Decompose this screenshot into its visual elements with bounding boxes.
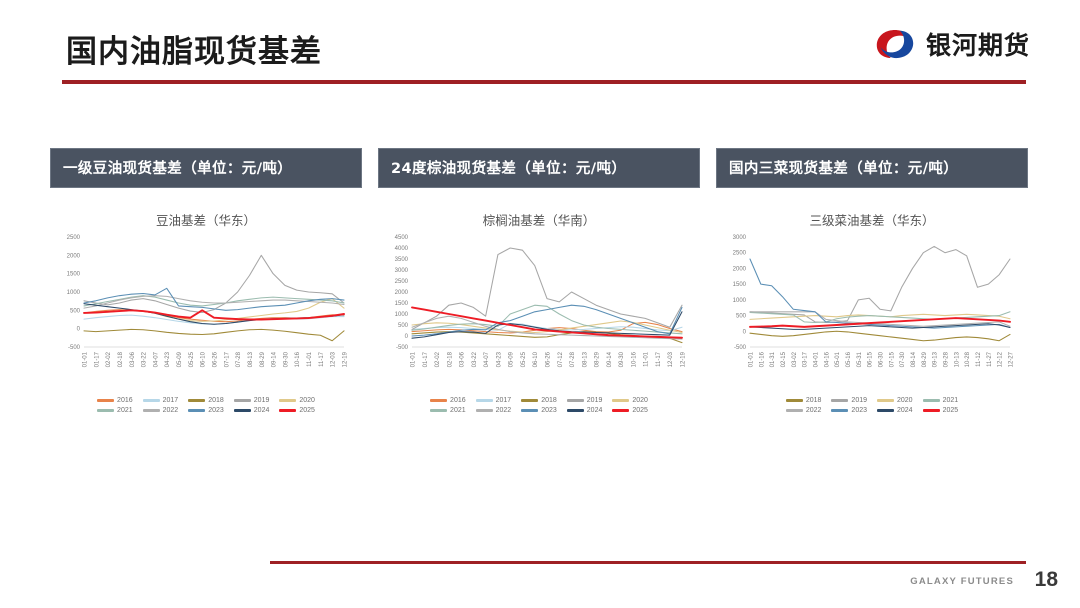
legend-item-2024[interactable]: 2024 [877,407,913,414]
legend-label: 2023 [541,407,557,414]
legend-swatch-icon [567,409,584,411]
plot-area-rapeseed-oil: 300025002000150010005000-50001-0101-1601… [716,231,1016,393]
x-axis-tick: 01-01 [83,351,89,367]
x-axis-tick: 06-30 [879,351,885,367]
legend-swatch-icon [877,399,894,401]
chart-title-rapeseed-oil: 三级菜油基差（华东） [716,210,1028,229]
x-axis-tick: 07-12 [558,351,564,367]
x-axis-tick: 08-14 [911,351,917,367]
legend-row: 2022202320242025 [781,407,963,414]
x-axis-tick: 05-01 [835,351,841,367]
x-axis-tick: 06-26 [213,351,219,367]
panel-palm-oil: 24度棕油现货基差（单位：元/吨）棕榈油基差（华南）45004000350030… [378,148,700,414]
y-axis-tick: 1000 [733,298,747,304]
legend-item-2019[interactable]: 2019 [831,397,867,404]
legend-label: 2018 [541,397,557,404]
brand-lockup: 银河期货 [874,26,1030,62]
x-axis-tick: 04-16 [824,351,830,367]
legend-label: 2025 [943,407,959,414]
y-axis-tick: 0 [77,327,81,333]
x-axis-tick: 11-01 [307,351,313,367]
legend-label: 2018 [208,397,224,404]
legend-swatch-icon [567,399,584,401]
legend-item-2016[interactable]: 2016 [430,397,466,404]
y-axis-tick: 1500 [67,272,81,278]
x-axis-tick: 12-12 [998,351,1004,367]
x-axis-tick: 04-23 [165,351,171,367]
x-axis-tick: 09-14 [272,351,278,367]
legend-swatch-icon [612,409,629,411]
panel-heading-soybean-oil: 一级豆油现货基差（单位：元/吨） [50,148,362,188]
legend-label: 2020 [299,397,315,404]
legend-swatch-icon [143,409,160,411]
y-axis-tick: 500 [736,314,747,320]
legend-item-2025[interactable]: 2025 [923,407,959,414]
legend-row: 20162017201820192020 [425,397,653,404]
y-axis-tick: -500 [68,345,81,351]
chart-rapeseed-oil: 三级菜油基差（华东）300025002000150010005000-50001… [716,210,1028,414]
legend-item-2025[interactable]: 2025 [612,407,648,414]
x-axis-tick: 05-31 [857,351,863,367]
legend-label: 2017 [163,397,179,404]
x-axis-tick: 05-09 [509,351,515,367]
x-axis-tick: 08-13 [582,351,588,367]
x-axis-tick: 12-03 [668,351,674,367]
legend-swatch-icon [188,399,205,401]
x-axis-tick: 03-22 [142,351,148,367]
legend-item-2016[interactable]: 2016 [97,397,133,404]
chart-title-soybean-oil: 豆油基差（华东） [50,210,362,229]
legend-swatch-icon [831,399,848,401]
x-axis-tick: 03-17 [803,351,809,367]
legend-label: 2021 [943,397,959,404]
legend-swatch-icon [923,399,940,401]
legend-label: 2021 [450,407,466,414]
series-line-2018 [750,331,1010,340]
legend-item-2020[interactable]: 2020 [279,397,315,404]
series-line-2019 [750,246,1010,322]
x-axis-tick: 06-26 [546,351,552,367]
x-axis-tick: 01-01 [749,351,755,367]
x-axis-tick: 04-07 [484,351,490,367]
y-axis-tick: 500 [70,308,81,314]
legend-item-2022[interactable]: 2022 [786,407,822,414]
x-axis-tick: 08-29 [260,351,266,367]
chart-legend-soybean-oil: 2016201720182019202020212022202320242025 [50,397,362,414]
legend-label: 2024 [587,407,603,414]
galaxy-swirl-icon [874,27,916,61]
x-axis-tick: 08-13 [248,351,254,367]
legend-label: 2025 [299,407,315,414]
legend-swatch-icon [234,399,251,401]
x-axis-tick: 11-12 [976,351,982,367]
legend-item-2022[interactable]: 2022 [143,407,179,414]
y-axis-tick: 2000 [395,290,409,296]
y-axis-tick: 2500 [733,251,747,257]
x-axis-tick: 01-17 [423,351,429,367]
x-axis-tick: 01-16 [759,351,765,367]
legend-label: 2018 [806,397,822,404]
x-axis-tick: 10-16 [295,351,301,367]
legend-label: 2019 [851,397,867,404]
x-axis-tick: 07-15 [889,351,895,367]
legend-swatch-icon [97,409,114,411]
x-axis-tick: 01-31 [770,351,776,367]
x-axis-tick: 03-02 [792,351,798,367]
legend-item-2021[interactable]: 2021 [430,407,466,414]
legend-label: 2019 [254,397,270,404]
legend-swatch-icon [521,399,538,401]
legend-item-2022[interactable]: 2022 [476,407,512,414]
x-axis-tick: 01-17 [94,351,100,367]
legend-swatch-icon [430,399,447,401]
x-axis-tick: 06-15 [868,351,874,367]
brand-name: 银河期货 [926,26,1030,62]
x-axis-tick: 09-13 [933,351,939,367]
y-axis-tick: 3000 [395,268,409,274]
legend-swatch-icon [279,409,296,411]
x-axis-tick: 05-16 [846,351,852,367]
legend-item-2024[interactable]: 2024 [234,407,270,414]
legend-label: 2020 [632,397,648,404]
x-axis-tick: 08-29 [595,351,601,367]
legend-swatch-icon [430,409,447,411]
panel-heading-rapeseed-oil: 国内三菜现货基差（单位：元/吨） [716,148,1028,188]
x-axis-tick: 02-18 [118,351,124,367]
y-axis-tick: 0 [743,329,747,335]
x-axis-tick: 01-01 [411,351,417,367]
legend-row: 20212022202320242025 [425,407,653,414]
y-axis-tick: 3500 [395,257,409,263]
legend-label: 2019 [587,397,603,404]
legend-swatch-icon [97,399,114,401]
x-axis-tick: 08-29 [922,351,928,367]
legend-label: 2021 [117,407,133,414]
x-axis-tick: 09-14 [607,351,613,367]
legend-row: 20212022202320242025 [92,407,320,414]
x-axis-tick: 09-30 [619,351,625,367]
series-line-2017 [84,315,344,324]
y-axis-tick: 1500 [395,301,409,307]
x-axis-tick: 07-30 [900,351,906,367]
legend-label: 2023 [851,407,867,414]
y-axis-tick: 1000 [395,312,409,318]
legend-row: 20162017201820192020 [92,397,320,404]
y-axis-tick: 4500 [395,235,409,241]
legend-swatch-icon [521,409,538,411]
legend-item-2019[interactable]: 2019 [567,397,603,404]
legend-item-2017[interactable]: 2017 [143,397,179,404]
legend-item-2018[interactable]: 2018 [786,397,822,404]
legend-item-2020[interactable]: 2020 [612,397,648,404]
panel-rapeseed-oil: 国内三菜现货基差（单位：元/吨）三级菜油基差（华东）30002500200015… [716,148,1028,414]
legend-item-2020[interactable]: 2020 [877,397,913,404]
legend-item-2023[interactable]: 2023 [521,407,557,414]
series-line-2018 [84,329,344,340]
legend-label: 2020 [897,397,913,404]
y-axis-tick: 3000 [733,235,747,241]
x-axis-tick: 03-06 [130,351,136,367]
x-axis-tick: 09-28 [944,351,950,367]
y-axis-tick: -500 [396,345,409,351]
legend-swatch-icon [476,409,493,411]
header-divider [62,80,1026,84]
legend-item-2024[interactable]: 2024 [567,407,603,414]
legend-label: 2022 [496,407,512,414]
legend-swatch-icon [612,399,629,401]
slide-header: 国内油脂现货基差 银河期货 [0,0,1080,92]
x-axis-tick: 07-28 [236,351,242,367]
panel-heading-palm-oil: 24度棕油现货基差（单位：元/吨） [378,148,700,188]
legend-label: 2016 [117,397,133,404]
legend-item-2018[interactable]: 2018 [188,397,224,404]
legend-item-2023[interactable]: 2023 [831,407,867,414]
y-axis-tick: 1000 [67,290,81,296]
y-axis-tick: -500 [734,345,747,351]
x-axis-tick: 12-27 [1009,351,1015,367]
y-axis-tick: 0 [405,334,409,340]
x-axis-tick: 04-07 [153,351,159,367]
y-axis-tick: 2000 [733,266,747,272]
x-axis-tick: 04-23 [496,351,502,367]
page-number: 18 [1035,568,1058,592]
x-axis-tick: 03-22 [472,351,478,367]
legend-swatch-icon [786,399,803,401]
plot-area-soybean-oil: 25002000150010005000-50001-0101-1702-020… [50,231,350,393]
slide-root: 国内油脂现货基差 银河期货 一级豆油现货基差（单位：元/吨）豆油基差（华东）25… [0,0,1080,608]
x-axis-tick: 09-30 [283,351,289,367]
chart-title-palm-oil: 棕榈油基差（华南） [378,210,700,229]
legend-swatch-icon [786,409,803,411]
legend-swatch-icon [877,409,894,411]
x-axis-tick: 02-18 [447,351,453,367]
y-axis-tick: 2500 [67,235,81,241]
x-axis-tick: 04-01 [814,351,820,367]
legend-label: 2024 [897,407,913,414]
legend-swatch-icon [234,409,251,411]
legend-row: 2018201920202021 [781,397,963,404]
x-axis-tick: 03-06 [460,351,466,367]
legend-swatch-icon [143,399,160,401]
x-axis-tick: 06-10 [201,351,207,367]
legend-item-2018[interactable]: 2018 [521,397,557,404]
x-axis-tick: 11-17 [319,351,325,367]
legend-swatch-icon [476,399,493,401]
legend-label: 2017 [496,397,512,404]
legend-item-2019[interactable]: 2019 [234,397,270,404]
x-axis-tick: 10-28 [965,351,971,367]
plot-area-palm-oil: 450040003500300025002000150010005000-500… [378,231,688,393]
x-axis-tick: 02-02 [106,351,112,367]
legend-item-2023[interactable]: 2023 [188,407,224,414]
x-axis-tick: 11-17 [656,351,662,367]
legend-label: 2022 [163,407,179,414]
legend-label: 2016 [450,397,466,404]
footer-divider [270,561,1026,564]
x-axis-tick: 12-19 [681,351,687,367]
page-title: 国内油脂现货基差 [66,26,322,71]
x-axis-tick: 05-09 [177,351,183,367]
legend-item-2017[interactable]: 2017 [476,397,512,404]
x-axis-tick: 02-15 [781,351,787,367]
x-axis-tick: 10-16 [631,351,637,367]
chart-soybean-oil: 豆油基差（华东）25002000150010005000-50001-0101-… [50,210,362,414]
x-axis-tick: 07-28 [570,351,576,367]
legend-label: 2025 [632,407,648,414]
y-axis-tick: 1500 [733,282,747,288]
x-axis-tick: 07-17 [224,351,230,367]
x-axis-tick: 12-03 [331,351,337,367]
legend-swatch-icon [923,409,940,411]
y-axis-tick: 500 [398,323,409,329]
x-axis-tick: 05-25 [521,351,527,367]
chart-legend-palm-oil: 2016201720182019202020212022202320242025 [378,397,700,414]
y-axis-tick: 2000 [67,253,81,259]
chart-legend-rapeseed-oil: 20182019202020212022202320242025 [716,397,1028,414]
chart-palm-oil: 棕榈油基差（华南）4500400035003000250020001500100… [378,210,700,414]
legend-item-2025[interactable]: 2025 [279,407,315,414]
x-axis-tick: 05-25 [189,351,195,367]
legend-label: 2022 [806,407,822,414]
y-axis-tick: 4000 [395,246,409,252]
legend-item-2021[interactable]: 2021 [97,407,133,414]
x-axis-tick: 11-27 [987,351,993,367]
legend-swatch-icon [279,399,296,401]
legend-item-2021[interactable]: 2021 [923,397,959,404]
legend-label: 2024 [254,407,270,414]
footer-brand: GALAXY FUTURES [910,576,1014,587]
x-axis-tick: 12-19 [343,351,349,367]
x-axis-tick: 02-02 [435,351,441,367]
x-axis-tick: 11-01 [644,351,650,367]
legend-swatch-icon [831,409,848,411]
x-axis-tick: 10-13 [954,351,960,367]
y-axis-tick: 2500 [395,279,409,285]
x-axis-tick: 06-10 [533,351,539,367]
panel-soybean-oil: 一级豆油现货基差（单位：元/吨）豆油基差（华东）2500200015001000… [50,148,362,414]
legend-swatch-icon [188,409,205,411]
legend-label: 2023 [208,407,224,414]
